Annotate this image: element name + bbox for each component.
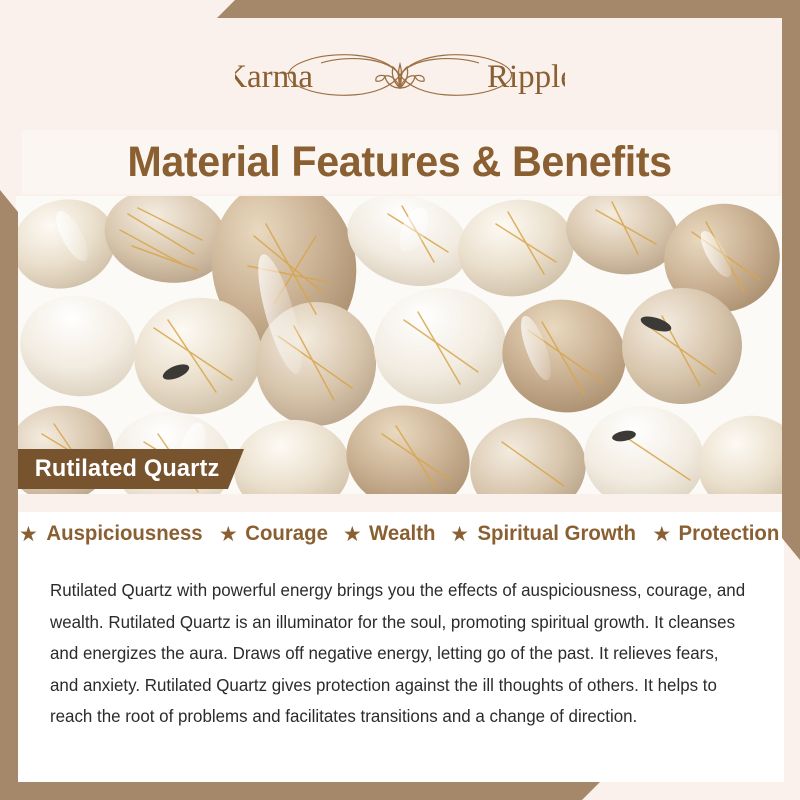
benefit-label: Courage <box>245 522 328 546</box>
star-icon: ★ <box>652 524 671 545</box>
header-section: Karma Ripple Material Features & Benefit… <box>0 0 800 196</box>
benefits-list: ★ Auspiciousness ★ Courage ★ Wealth ★ Sp… <box>16 522 784 546</box>
star-icon: ★ <box>219 524 238 545</box>
star-icon: ★ <box>19 524 38 545</box>
benefit-item-wealth: ★ Wealth <box>343 522 436 546</box>
benefit-label: Protection <box>679 522 780 546</box>
page-title: Material Features & Benefits <box>128 138 672 187</box>
star-icon: ★ <box>450 524 469 545</box>
frame-band-right <box>782 0 800 560</box>
brand-logo: Karma Ripple <box>0 42 800 108</box>
benefit-item-auspiciousness: ★ Auspiciousness <box>19 522 205 546</box>
content-top-tint <box>16 494 784 512</box>
page-title-band: Material Features & Benefits <box>22 130 778 194</box>
benefit-label: Auspiciousness <box>46 522 202 546</box>
content-panel: ★ Auspiciousness ★ Courage ★ Wealth ★ Sp… <box>16 494 784 782</box>
frame-band-left <box>0 190 18 800</box>
description-paragraph: Rutilated Quartz with powerful energy br… <box>50 575 751 733</box>
lotus-infinity-logo-icon: Karma Ripple <box>235 43 565 107</box>
star-icon: ★ <box>343 524 362 545</box>
stone-name-banner: Rutilated Quartz <box>16 449 244 489</box>
benefit-label: Wealth <box>369 522 435 546</box>
brand-word-right: Ripple <box>487 59 565 95</box>
poster-root: Karma Ripple Material Features & Benefit… <box>0 0 800 800</box>
benefit-item-courage: ★ Courage <box>219 522 329 546</box>
brand-word-left: Karma <box>235 59 313 95</box>
frame-band-bottom <box>0 782 800 800</box>
benefit-item-protection: ★ Protection <box>652 522 781 546</box>
benefit-item-spiritual-growth: ★ Spiritual Growth <box>450 522 638 546</box>
stone-name-label: Rutilated Quartz <box>18 455 219 483</box>
benefit-label: Spiritual Growth <box>477 522 635 546</box>
